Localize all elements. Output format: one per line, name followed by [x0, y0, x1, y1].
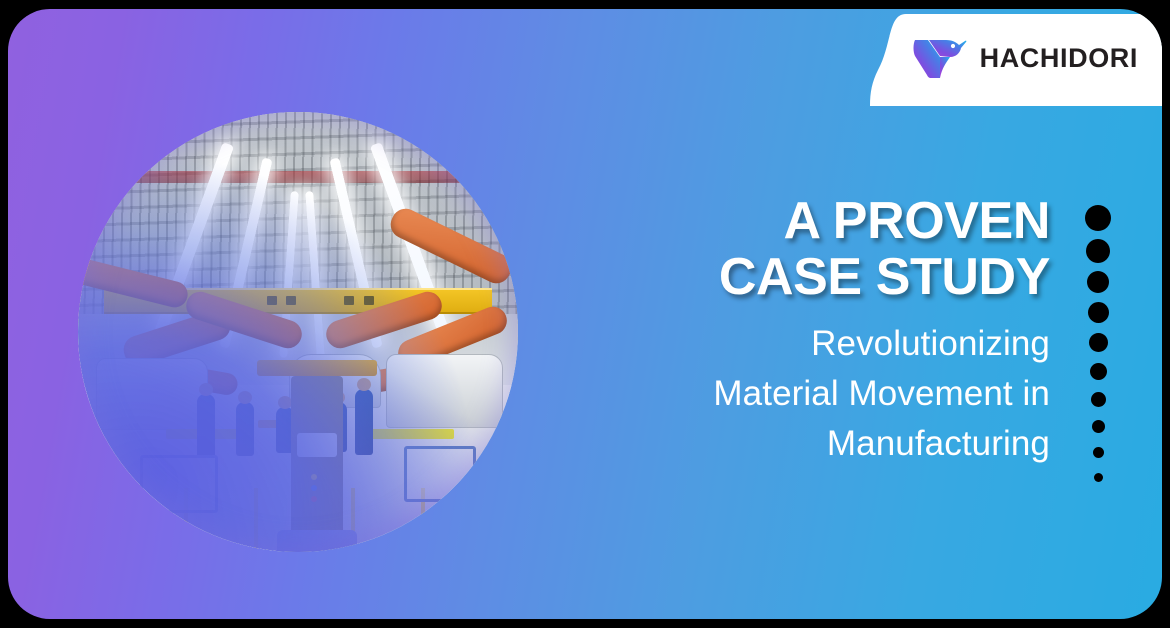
- decoration-dot: [1087, 271, 1109, 293]
- decoration-dot: [1086, 239, 1110, 263]
- brand-banner: HACHIDORI: [870, 14, 1162, 106]
- subhead-line-2: Material Movement in: [713, 374, 1050, 413]
- decoration-dot: [1094, 473, 1103, 482]
- decoration-dot: [1093, 447, 1104, 458]
- slide-copy: A PROVEN CASE STUDY Revolutionizing Mate…: [490, 194, 1050, 468]
- hummingbird-logo-icon: [913, 36, 967, 80]
- page-subtitle: Revolutionizing Material Movement in Man…: [490, 319, 1050, 468]
- decoration-dot: [1089, 333, 1108, 352]
- decoration-dot: [1085, 205, 1111, 231]
- subhead-line-3: Manufacturing: [827, 424, 1050, 463]
- headline-line-2: CASE STUDY: [719, 248, 1050, 306]
- decoration-dot: [1092, 420, 1105, 433]
- slide-card: HACHIDORI A PROVEN CASE STUDY Revolution…: [8, 9, 1162, 619]
- decoration-dot: [1088, 302, 1109, 323]
- page-title: A PROVEN CASE STUDY: [490, 194, 1050, 305]
- subhead-line-1: Revolutionizing: [811, 324, 1050, 363]
- headline-line-1: A PROVEN: [784, 192, 1050, 250]
- decoration-dot: [1090, 363, 1107, 380]
- decoration-dot: [1091, 392, 1106, 407]
- dot-decoration: [1081, 205, 1115, 482]
- brand-name: HACHIDORI: [980, 43, 1138, 74]
- photo-edge-blend: [78, 112, 518, 552]
- hero-photo: [78, 112, 518, 552]
